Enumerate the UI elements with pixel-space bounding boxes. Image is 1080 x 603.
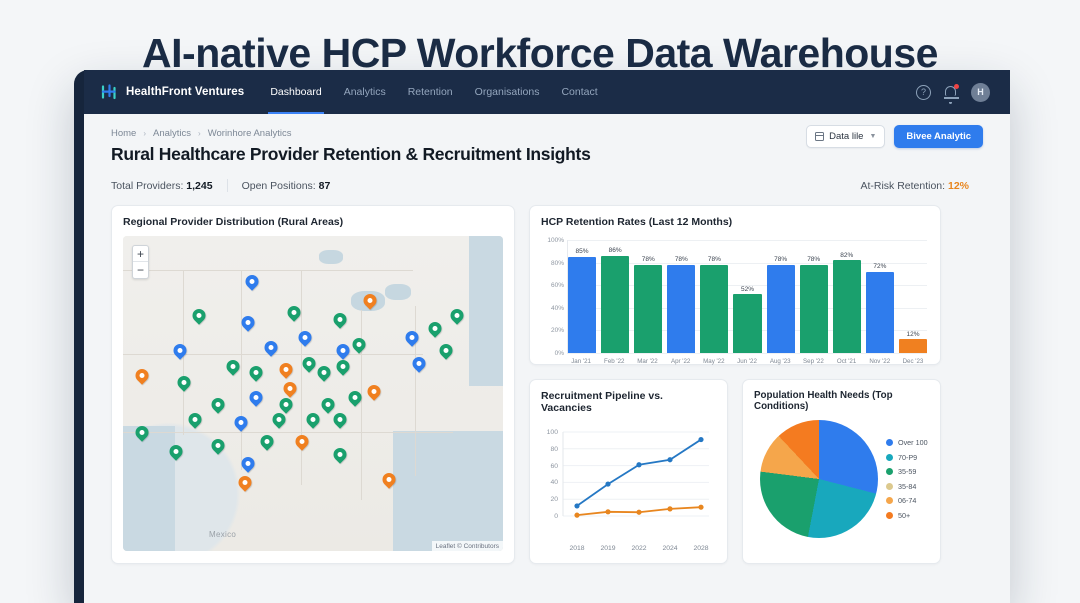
map-provider-pin[interactable] [333,313,346,331]
legend-color-swatch [886,439,893,446]
map-provider-pin[interactable] [250,391,263,409]
bar-chart-column[interactable]: 85% [568,240,596,353]
line-data-point[interactable] [667,457,672,462]
line-data-point[interactable] [698,505,703,510]
bar-value-label: 85% [576,248,589,255]
legend-label: Over 100 [898,438,928,447]
x-axis-tick-label: 2018 [569,545,584,552]
map-provider-pin[interactable] [352,338,365,356]
line-data-point[interactable] [574,513,579,518]
x-axis-tick-label: Feb '22 [600,355,628,371]
legend-label: 50+ [898,511,910,520]
bar-value-label: 78% [774,256,787,263]
y-axis-tick-label: 80 [541,446,558,453]
map-lake [319,250,343,264]
legend-item[interactable]: 35-84 [886,482,928,491]
stat-open-positions-label: Open Positions: [242,180,316,192]
bar-chart-plot-area: 85%86%78%78%78%52%78%78%82%72%12% [567,240,927,353]
stat-total-providers-value: 1,245 [186,180,212,192]
chevron-right-icon: › [198,129,201,138]
bar-value-label: 78% [642,256,655,263]
y-axis-tick-label: 0 [541,513,558,520]
bar-chart-column[interactable]: 78% [767,240,795,353]
bar-value-label: 78% [807,256,820,263]
map-border-line [123,432,453,433]
app-viewport: HealthFront Ventures Dashboard Analytics… [84,70,1010,603]
bar-value-label: 52% [741,286,754,293]
bar-chart-column[interactable]: 12% [899,240,927,353]
top-navigation-bar: HealthFront Ventures Dashboard Analytics… [84,70,1010,114]
page-title: Rural Healthcare Provider Retention & Re… [111,144,591,165]
y-axis-tick-label: 80% [541,260,564,267]
bar [601,256,629,353]
map-provider-pin[interactable] [413,357,426,375]
bar-value-label: 78% [708,256,721,263]
header-actions: Data lile ▼ Bivee Analytic [806,125,983,148]
map-provider-pin[interactable] [288,306,301,324]
y-axis-tick-label: 40 [541,479,558,486]
x-axis-tick-label: May '22 [700,355,728,371]
bar-chart-column[interactable]: 78% [700,240,728,353]
map-attribution[interactable]: Leaflet © Contributors [432,541,503,551]
map-provider-pin[interactable] [136,426,149,444]
legend-item[interactable]: 35-59 [886,467,928,476]
legend-label: 06-74 [898,496,916,505]
map-provider-pin[interactable] [428,322,441,340]
share-analytic-button[interactable]: Bivee Analytic [894,125,983,148]
map-provider-pin[interactable] [307,413,320,431]
x-axis-tick-label: Sep '22 [799,355,827,371]
bar [833,260,861,353]
bar [700,265,728,353]
map-zoom-controls: + − [132,245,149,279]
map-water-atlantic [393,431,503,551]
map-provider-pin[interactable] [333,448,346,466]
bar [667,265,695,353]
map-provider-pin[interactable] [367,385,380,403]
bottom-charts-grid: Recruitment Pipeline vs. Vacancies 10080… [529,379,941,564]
map-provider-pin[interactable] [265,341,278,359]
map-provider-pin[interactable] [174,344,187,362]
pie-chart-row: Over 10070-P935-5935-8406-7450+ [754,420,929,538]
line-data-point[interactable] [605,481,610,486]
line-data-point[interactable] [667,506,672,511]
map-provider-pin[interactable] [405,331,418,349]
line-data-point[interactable] [636,510,641,515]
legend-item[interactable]: Over 100 [886,438,928,447]
bar-chart-x-axis: Jan '21Feb '22Mar '22Apr '22May '22Jun '… [567,355,927,371]
breadcrumb-item-current: Worinhore Analytics [208,128,292,139]
y-axis-tick-label: 60 [541,463,558,470]
map-provider-pin[interactable] [261,435,274,453]
retention-bar-chart: 100%80%60%40%20%0% 85%86%78%78%78%52%78%… [541,240,929,371]
legend-color-swatch [886,454,893,461]
bar-value-label: 12% [906,331,919,338]
map-border-line [241,270,242,470]
map-zoom-out-button[interactable]: − [133,262,148,278]
map-provider-pin[interactable] [189,413,202,431]
map-provider-pin[interactable] [234,416,247,434]
brand[interactable]: HealthFront Ventures [100,83,244,101]
x-axis-tick-label: Dec '23 [899,355,927,371]
map-provider-pin[interactable] [451,309,464,327]
population-health-pie-chart [760,420,878,538]
nav-item-retention[interactable]: Retention [408,70,453,114]
population-health-card: Population Health Needs (Top Conditions)… [742,379,941,564]
bell-icon[interactable] [944,84,958,100]
y-axis-tick-label: 60% [541,282,564,289]
healthfront-logo-icon [100,83,118,101]
x-axis-tick-label: 2019 [600,545,615,552]
map-provider-pin[interactable] [177,376,190,394]
map-provider-pin[interactable] [364,294,377,312]
right-column: HCP Retention Rates (Last 12 Months) 100… [529,205,941,564]
map-provider-pin[interactable] [227,360,240,378]
stat-total-providers-label: Total Providers: [111,180,183,192]
legend-label: 35-84 [898,482,916,491]
divider [227,179,228,192]
chevron-right-icon: › [143,129,146,138]
y-axis-tick-label: 20% [541,327,564,334]
bar-value-label: 72% [873,263,886,270]
stat-open-positions: Open Positions: 87 [242,180,345,192]
bar [634,265,662,353]
chevron-down-icon: ▼ [869,133,876,140]
nav-item-contact[interactable]: Contact [561,70,597,114]
bar-chart-column[interactable]: 72% [866,240,894,353]
line-series [577,440,701,506]
map-provider-pin[interactable] [333,413,346,431]
map-border-line [123,270,413,271]
dashboard-grid: Regional Provider Distribution (Rural Ar… [111,205,983,564]
y-axis-tick-label: 40% [541,305,564,312]
x-axis-tick-label: 2024 [662,545,677,552]
avatar[interactable]: H [971,83,990,102]
map-provider-pin[interactable] [383,473,396,491]
gridline [567,353,927,354]
pipeline-chart-title: Recruitment Pipeline vs. Vacancies [541,390,716,414]
bar-chart-column[interactable]: 86% [601,240,629,353]
x-axis-tick-label: 2022 [631,545,646,552]
recruitment-pipeline-card: Recruitment Pipeline vs. Vacancies 10080… [529,379,728,564]
map-water-pacific [123,426,175,551]
y-axis-tick-label: 20 [541,496,558,503]
map-provider-pin[interactable] [136,369,149,387]
map-provider-pin[interactable] [348,391,361,409]
stat-at-risk-label: At-Risk Retention: [860,180,945,192]
stat-at-risk-value: 12% [948,180,969,192]
map-provider-pin[interactable] [299,331,312,349]
x-axis-tick-label: Jun '22 [733,355,761,371]
map-provider-pin[interactable] [280,363,293,381]
map-provider-pin[interactable] [272,413,285,431]
bar [866,272,894,353]
bar-chart-column[interactable]: 78% [800,240,828,353]
legend-color-swatch [886,483,893,490]
bar [800,265,828,353]
map-provider-pin[interactable] [303,357,316,375]
bar [899,339,927,353]
x-axis-tick-label: Nov '22 [866,355,894,371]
legend-color-swatch [886,497,893,504]
bar-value-label: 78% [675,256,688,263]
x-axis-tick-label: Jan '21 [567,355,595,371]
nav-item-organisations[interactable]: Organisations [475,70,540,114]
nav-right-actions: ? H [916,83,990,102]
stats-row: Total Providers: 1,245 Open Positions: 8… [111,179,983,192]
line-data-point[interactable] [698,437,703,442]
map-provider-pin[interactable] [170,445,183,463]
map-provider-pin[interactable] [440,344,453,362]
bar-chart-column[interactable]: 82% [833,240,861,353]
nav-item-dashboard[interactable]: Dashboard [270,70,321,114]
map-card: Regional Provider Distribution (Rural Ar… [111,205,515,564]
y-axis-tick-label: 0% [541,350,564,357]
date-filter-button[interactable]: Data lile ▼ [806,125,885,148]
line-data-point[interactable] [574,503,579,508]
bar-chart-column[interactable]: 52% [733,240,761,353]
pie-chart-title: Population Health Needs (Top Conditions) [754,390,929,412]
question-mark-circle-icon[interactable]: ? [916,85,931,100]
map-provider-pin[interactable] [295,435,308,453]
breadcrumb-item-home[interactable]: Home [111,128,136,139]
bar [733,294,761,353]
x-axis-tick-label: Mar '22 [633,355,661,371]
bar [767,265,795,353]
x-axis-tick-label: Aug '23 [766,355,794,371]
map-lake [385,284,411,300]
page-content: Home › Analytics › Worinhore Analytics R… [84,114,1010,564]
legend-label: 35-59 [898,467,916,476]
line-data-point[interactable] [636,462,641,467]
stat-total-providers: Total Providers: 1,245 [111,180,227,192]
x-axis-tick-label: Apr '22 [667,355,695,371]
y-axis-tick-label: 100% [541,237,564,244]
stat-open-positions-value: 87 [319,180,331,192]
retention-chart-title: HCP Retention Rates (Last 12 Months) [541,216,929,228]
nav-links: Dashboard Analytics Retention Organisati… [270,70,597,114]
y-axis-tick-label: 100 [541,429,558,436]
map-card-title: Regional Provider Distribution (Rural Ar… [123,216,503,228]
bar [568,257,596,353]
map-provider-pin[interactable] [242,316,255,334]
legend-item[interactable]: 06-74 [886,496,928,505]
map-water-northeast [469,236,503,386]
map-zoom-in-button[interactable]: + [133,246,148,262]
line-data-point[interactable] [605,509,610,514]
map-provider-pin[interactable] [238,476,251,494]
brand-name: HealthFront Ventures [126,86,244,98]
date-filter-label: Data lile [829,131,863,142]
x-axis-tick-label: Oct '21 [833,355,861,371]
map-provider-pin[interactable] [242,457,255,475]
retention-rates-card: HCP Retention Rates (Last 12 Months) 100… [529,205,941,365]
bar-value-label: 82% [840,252,853,259]
map-provider-pin[interactable] [250,366,263,384]
legend-color-swatch [886,512,893,519]
map-provider-pin[interactable] [212,398,225,416]
map-provider-pin[interactable] [212,439,225,457]
map-provider-pin[interactable] [337,360,350,378]
bar-chart-column[interactable]: 78% [634,240,662,353]
legend-item[interactable]: 50+ [886,511,928,520]
map-provider-pin[interactable] [318,366,331,384]
legend-item[interactable]: 70-P9 [886,453,928,462]
nav-item-analytics[interactable]: Analytics [344,70,386,114]
bar-chart-column[interactable]: 78% [667,240,695,353]
notification-badge-dot [954,84,959,89]
x-axis-tick-label: 2028 [693,545,708,552]
map-region-label-mexico: Mexico [209,530,236,539]
browser-window-frame: HealthFront Ventures Dashboard Analytics… [74,70,1010,603]
stat-at-risk-retention: At-Risk Retention: 12% [860,180,983,192]
bar-value-label: 86% [609,247,622,254]
title-row: Rural Healthcare Provider Retention & Re… [111,139,983,165]
map-provider-pin[interactable] [193,309,206,327]
recruitment-line-chart: 100806040200 20182019202220242028 [541,424,716,552]
pie-chart-legend: Over 10070-P935-5935-8406-7450+ [886,438,928,520]
legend-label: 70-P9 [898,453,917,462]
map-provider-pin[interactable] [246,275,259,293]
provider-distribution-map[interactable]: + − Mexico Leaflet © Contributors [123,236,503,551]
breadcrumb-item-analytics[interactable]: Analytics [153,128,191,139]
legend-color-swatch [886,468,893,475]
calendar-icon [815,132,824,141]
